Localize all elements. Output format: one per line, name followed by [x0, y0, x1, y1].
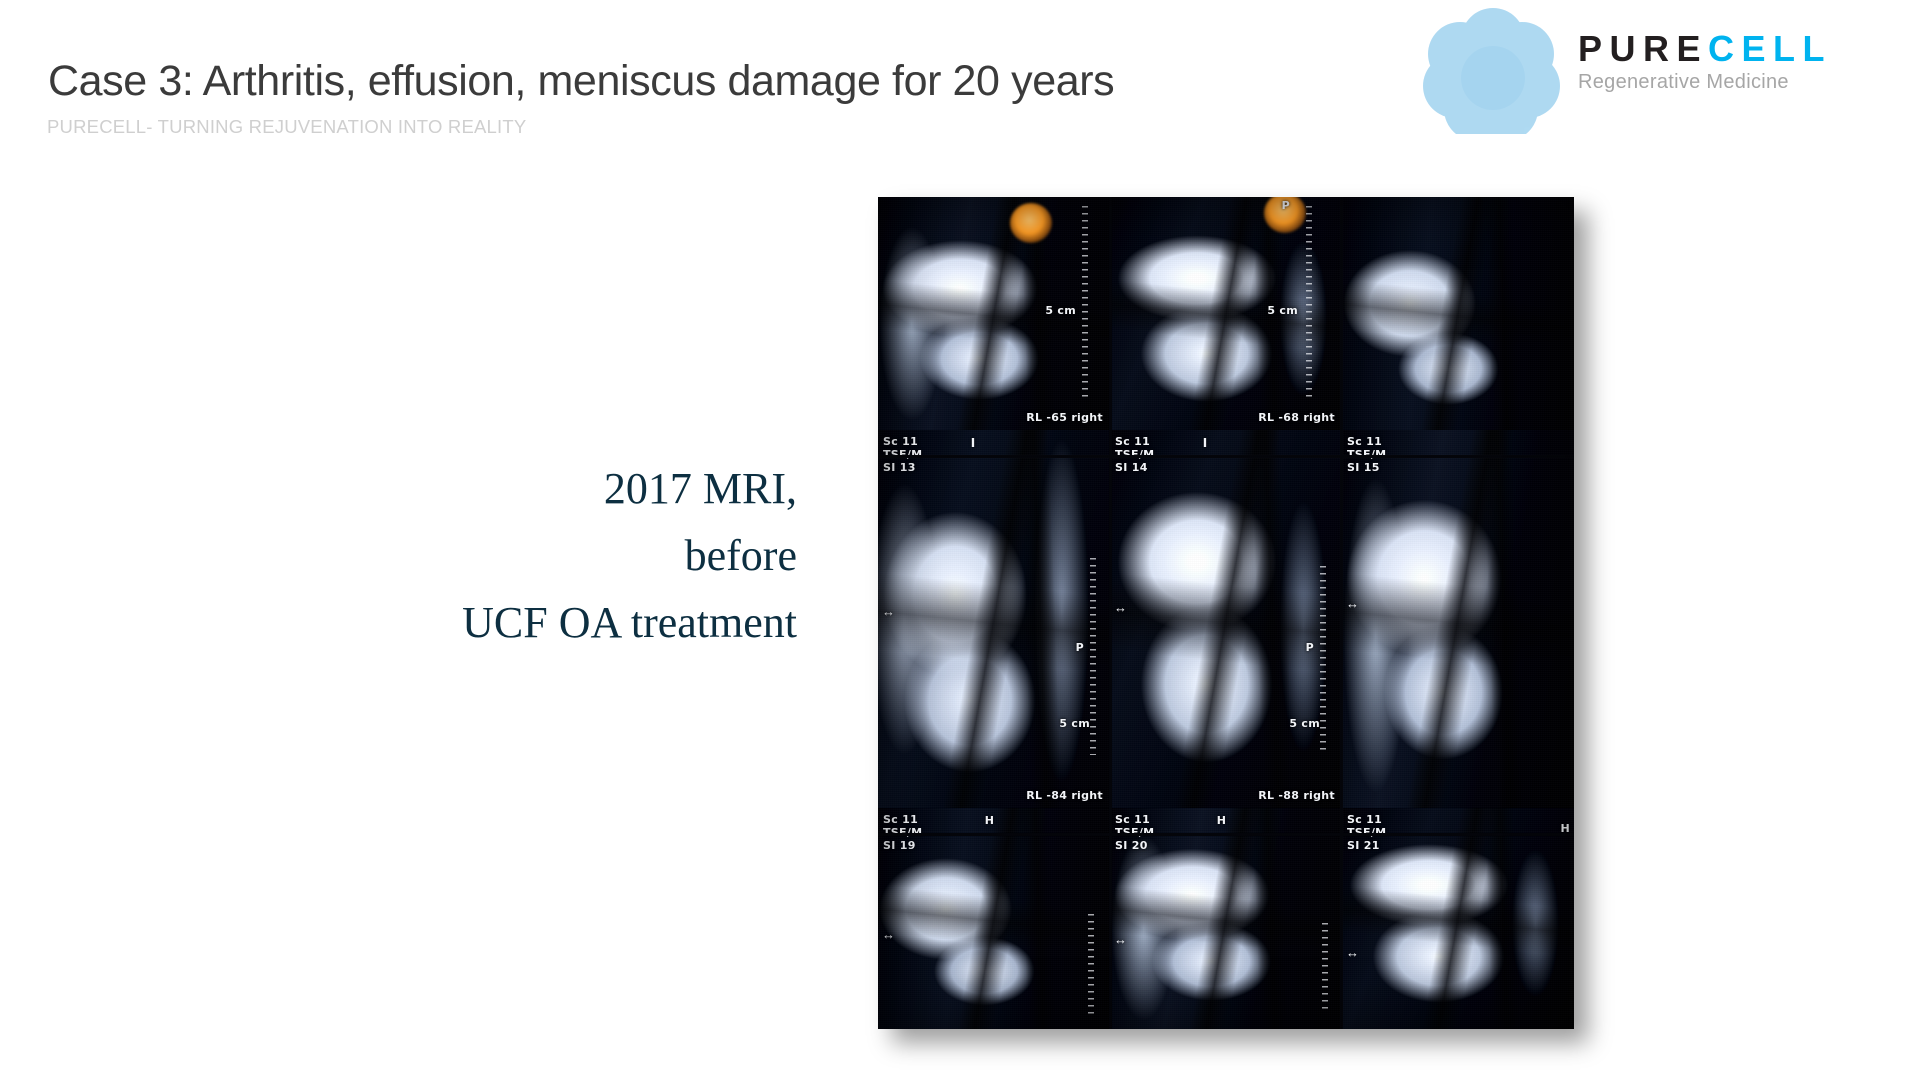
mri-slice-image: [878, 808, 1110, 1029]
mri-scale-ruler: [1320, 566, 1326, 755]
mri-panel-r1c3: [1342, 197, 1574, 430]
mri-slice-image: [1110, 808, 1342, 1029]
film-seam-horizontal: [878, 833, 1574, 836]
measurement-arrow-icon: ↔: [1346, 596, 1359, 611]
wordmark-row: PURECELL: [1578, 29, 1908, 69]
mri-film-grain: [1342, 430, 1574, 808]
mri-panel-r2c3: Sc 11 TSE/M SI 15 ↔: [1342, 430, 1574, 808]
mri-panel-r1c1: 5 cm RL -65 right: [878, 197, 1110, 430]
mri-scale-ruler: [1090, 558, 1096, 754]
film-seam-vertical: [1109, 197, 1112, 1029]
mri-caption-line-2: before: [300, 522, 797, 589]
mri-slice-image: [878, 430, 1110, 808]
film-seam-vertical: [1340, 197, 1343, 1029]
mri-film-grain: [878, 430, 1110, 808]
measurement-arrow-icon: ↔: [882, 927, 895, 942]
mri-slice-grid: 5 cm RL -65 right P 5 cm RL -68 right: [878, 197, 1574, 1029]
mri-film-grain: [878, 808, 1110, 1029]
mri-scale-ruler: [1322, 923, 1328, 1012]
mri-scale-ruler: [1082, 206, 1088, 402]
purecell-flower-logo-icon: [1418, 6, 1568, 134]
measurement-arrow-icon: ↔: [1346, 945, 1359, 960]
brand-logo: [1418, 6, 1568, 134]
mri-panel-r1c2: P 5 cm RL -68 right: [1110, 197, 1342, 430]
page-title: Case 3: Arthritis, effusion, meniscus da…: [48, 57, 1114, 106]
mri-contact-sheet-image: 5 cm RL -65 right P 5 cm RL -68 right: [878, 197, 1574, 1029]
brand-tagline: Regenerative Medicine: [1578, 71, 1908, 94]
mri-panel-r3c1: Sc 11 TSE/M SI 19 H ↔: [878, 808, 1110, 1029]
mri-caption: 2017 MRI, before UCF OA treatment: [300, 455, 797, 656]
mri-panel-r2c2: Sc 11 TSE/M SI 14 I P 5 cm RL -88 right …: [1110, 430, 1342, 808]
mri-film-grain: [1110, 808, 1342, 1029]
fiducial-marker-icon: [1010, 203, 1052, 243]
mri-panel-r3c2: Sc 11 TSE/M SI 20 H ↔: [1110, 808, 1342, 1029]
mri-slice-image: [1110, 430, 1342, 808]
mri-scale-ruler: [1088, 914, 1094, 1016]
mri-caption-line-1: 2017 MRI,: [300, 455, 797, 522]
mri-film-grain: [1110, 430, 1342, 808]
wordmark-pure: PURE: [1578, 28, 1708, 69]
slide-subtitle: PURECELL- TURNING REJUVENATION INTO REAL…: [47, 116, 526, 138]
mri-slice-image: [1342, 808, 1574, 1029]
mri-panel-r2c1: Sc 11 TSE/M SI 13 I P 5 cm RL -84 right …: [878, 430, 1110, 808]
mri-film-grain: [1342, 808, 1574, 1029]
film-seam-horizontal: [878, 455, 1574, 458]
mri-film-grain: [878, 197, 1110, 430]
mri-slice-image: [1342, 430, 1574, 808]
mri-scale-ruler: [1306, 206, 1312, 402]
mri-slice-image: [878, 197, 1110, 430]
measurement-arrow-icon: ↔: [1114, 600, 1127, 615]
mri-caption-line-3: UCF OA treatment: [300, 589, 797, 656]
wordmark-cell: CELL: [1708, 28, 1832, 69]
measurement-arrow-icon: ↔: [1114, 932, 1127, 947]
brand-wordmark: PURECELL Regenerative Medicine: [1578, 29, 1908, 101]
mri-slice-image: [1342, 197, 1574, 430]
mri-panel-r3c3: Sc 11 TSE/M SI 21 H ↔: [1342, 808, 1574, 1029]
mri-film-grain: [1342, 197, 1574, 430]
measurement-arrow-icon: ↔: [882, 604, 895, 619]
